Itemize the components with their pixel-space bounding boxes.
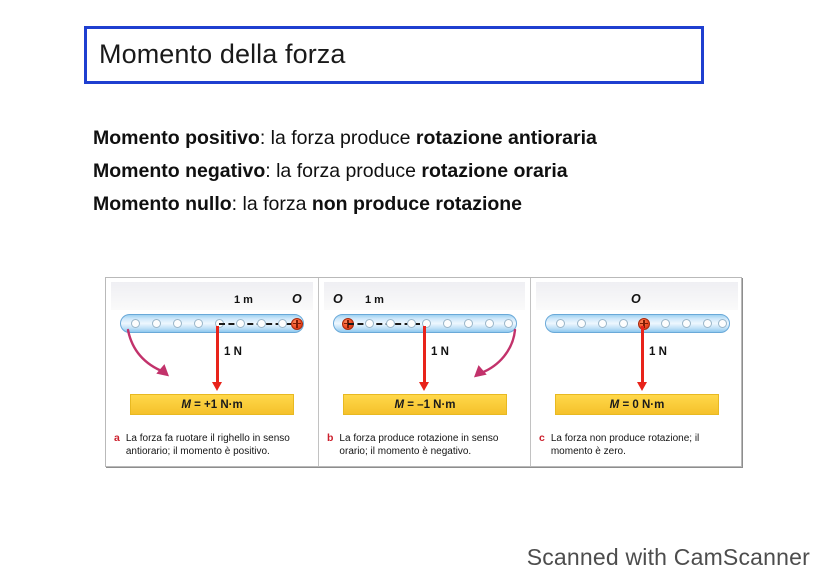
body-line-mid: : la forza produce <box>265 160 421 182</box>
pivot-point <box>291 318 303 330</box>
caption-letter: a <box>114 432 120 445</box>
ruler-hole <box>598 319 607 328</box>
camscanner-watermark: Scanned with CamScanner <box>527 544 810 571</box>
ruler-hole <box>464 319 473 328</box>
ruler-hole <box>257 319 266 328</box>
ruler-hole <box>278 319 287 328</box>
body-line-emph: rotazione oraria <box>421 160 567 182</box>
panel-background-strip <box>111 282 313 310</box>
caption-text: La forza fa ruotare il righello in senso… <box>126 432 298 458</box>
scale-label-origin: O <box>631 292 641 306</box>
result-symbol: M <box>394 399 404 411</box>
pivot-point <box>638 318 650 330</box>
body-line-mid: : la forza produce <box>260 127 416 149</box>
ruler-hole <box>718 319 727 328</box>
ruler-hole <box>703 319 712 328</box>
result-box: M = 0 N·m <box>555 394 719 415</box>
ruler-hole <box>619 319 628 328</box>
panel-background-strip <box>324 282 525 310</box>
caption-letter: b <box>327 432 333 445</box>
ruler-hole <box>485 319 494 328</box>
force-arrow <box>423 326 426 383</box>
ruler-hole <box>407 319 416 328</box>
panel-caption-c: c La forza non produce rotazione; il mom… <box>539 432 735 458</box>
figure-panel-c: O 1 N M = 0 N·m c La forza non produce r… <box>530 278 743 466</box>
result-symbol: M <box>610 399 620 411</box>
rotation-arrow-orario <box>459 328 525 384</box>
force-label: 1 N <box>224 346 242 358</box>
result-box: M = +1 N·m <box>130 394 294 415</box>
ruler-hole <box>661 319 670 328</box>
ruler-hole <box>194 319 203 328</box>
ruler-hole <box>556 319 565 328</box>
result-expression: = –1 N·m <box>404 399 455 411</box>
scale-label-distance: 1 m <box>365 294 384 306</box>
ruler-hole <box>236 319 245 328</box>
panel-caption-b: b La forza produce rotazione in senso or… <box>327 432 523 458</box>
ruler-hole <box>173 319 182 328</box>
rotation-arrow-antiorario <box>122 328 188 384</box>
force-label: 1 N <box>649 346 667 358</box>
ruler-hole <box>386 319 395 328</box>
scale-label-origin: O <box>292 292 302 306</box>
ruler-hole <box>131 319 140 328</box>
slide-title-box: Momento della forza <box>84 26 704 84</box>
caption-letter: c <box>539 432 545 445</box>
figure-panel-b: O 1 m 1 N M = –1 N·m b La forza produce <box>318 278 530 466</box>
body-line-mid: : la forza <box>232 193 312 215</box>
figure-panel-a: 1 m O 1 N M = +1 N·m a La forza fa <box>106 278 318 466</box>
body-line-lead: Momento positivo <box>93 127 260 149</box>
force-label: 1 N <box>431 346 449 358</box>
ruler-hole <box>504 319 513 328</box>
figure-momento-della-forza: 1 m O 1 N M = +1 N·m a La forza fa <box>105 277 742 467</box>
ruler-hole <box>365 319 374 328</box>
caption-text: La forza produce rotazione in senso orar… <box>339 432 511 458</box>
force-arrow <box>641 326 644 383</box>
ruler-hole <box>682 319 691 328</box>
ruler-hole <box>443 319 452 328</box>
result-symbol: M <box>181 399 191 411</box>
scale-label-distance: 1 m <box>234 294 253 306</box>
body-line-lead: Momento nullo <box>93 193 232 215</box>
body-line-lead: Momento negativo <box>93 160 265 182</box>
result-box: M = –1 N·m <box>343 394 507 415</box>
page-title: Momento della forza <box>99 39 346 70</box>
body-line-negativo: Momento negativo: la forza produce rotaz… <box>93 155 753 188</box>
ruler-bar <box>545 314 730 333</box>
result-expression: = 0 N·m <box>619 399 664 411</box>
scale-label-origin: O <box>333 292 343 306</box>
force-arrow <box>216 326 219 383</box>
result-expression: = +1 N·m <box>191 399 243 411</box>
panel-caption-a: a La forza fa ruotare il righello in sen… <box>114 432 310 458</box>
body-line-emph: rotazione antioraria <box>416 127 597 149</box>
ruler-hole <box>577 319 586 328</box>
body-line-emph: non produce rotazione <box>312 193 522 215</box>
caption-text: La forza non produce rotazione; il momen… <box>551 432 723 458</box>
ruler-hole <box>152 319 161 328</box>
body-line-nullo: Momento nullo: la forza non produce rota… <box>93 188 753 221</box>
body-text-block: Momento positivo: la forza produce rotaz… <box>93 122 753 221</box>
body-line-positivo: Momento positivo: la forza produce rotaz… <box>93 122 753 155</box>
